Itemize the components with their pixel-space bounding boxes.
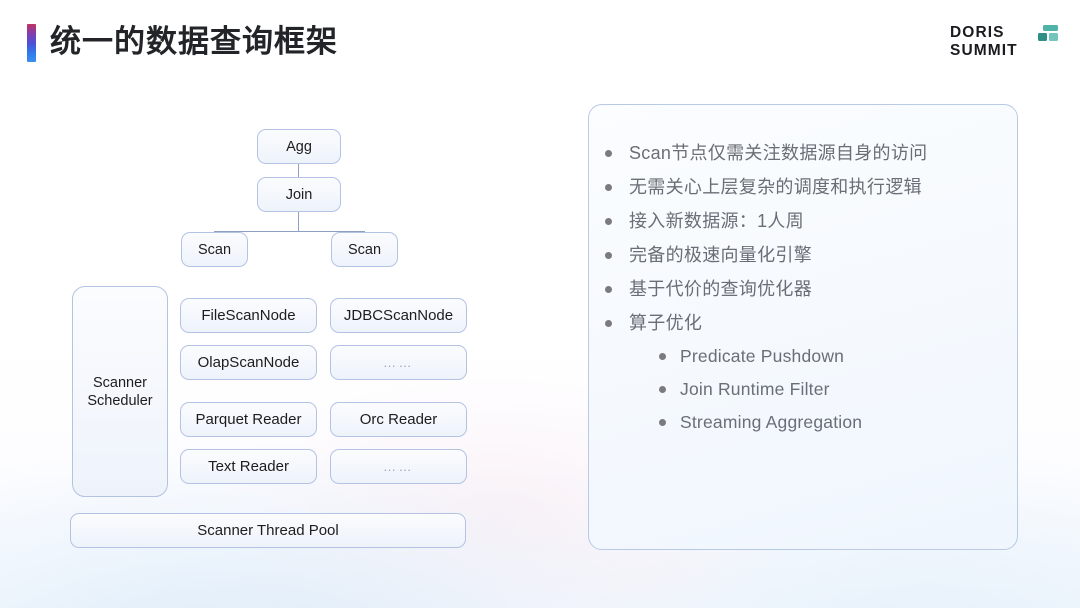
doris-summit-logo: DORIS SUMMIT — [950, 24, 1058, 64]
bullet-list: Scan节点仅需关注数据源自身的访问 无需关心上层复杂的调度和执行逻辑 接入新数… — [605, 141, 1003, 444]
node-jdbcscannode: JDBCScanNode — [330, 298, 467, 333]
connector-join-stem — [298, 212, 299, 231]
title-accent-bar — [27, 24, 36, 62]
node-more-scan-nodes: …… — [330, 345, 467, 380]
bullet-dot-icon — [605, 150, 612, 157]
sub-bullet-item: Predicate Pushdown — [605, 345, 1003, 368]
node-olapscannode: OlapScanNode — [180, 345, 317, 380]
node-join: Join — [257, 177, 341, 212]
bullet-label: 完备的极速向量化引擎 — [629, 243, 812, 268]
sub-bullet-list: Predicate Pushdown Join Runtime Filter S… — [605, 345, 1003, 434]
bullet-item: 完备的极速向量化引擎 — [605, 243, 1003, 268]
slide-canvas: 统一的数据查询框架 DORIS SUMMIT Agg Join Scan Sca… — [0, 0, 1080, 608]
node-text-reader: Text Reader — [180, 449, 317, 484]
bullet-label: 算子优化 — [629, 311, 702, 336]
bullet-dot-icon — [605, 286, 612, 293]
bullet-item: 接入新数据源：1人周 — [605, 209, 1003, 234]
node-agg: Agg — [257, 129, 341, 164]
page-title: 统一的数据查询框架 — [50, 20, 338, 64]
bullet-item: 基于代价的查询优化器 — [605, 277, 1003, 302]
node-parquet-reader: Parquet Reader — [180, 402, 317, 437]
node-scan-right: Scan — [331, 232, 398, 267]
bullet-label: Scan节点仅需关注数据源自身的访问 — [629, 141, 927, 166]
slide-header: 统一的数据查询框架 DORIS SUMMIT — [0, 0, 1080, 92]
sub-bullet-item: Join Runtime Filter — [605, 378, 1003, 401]
bullet-label: 基于代价的查询优化器 — [629, 277, 812, 302]
bullet-item: Scan节点仅需关注数据源自身的访问 — [605, 141, 1003, 166]
node-scan-left: Scan — [181, 232, 248, 267]
bullet-label: 接入新数据源：1人周 — [629, 209, 804, 234]
sub-bullet-label: Streaming Aggregation — [680, 411, 862, 434]
bullet-dot-icon — [605, 218, 612, 225]
bullet-dot-icon — [605, 252, 612, 259]
sub-bullet-dot-icon — [659, 419, 666, 426]
bullet-dot-icon — [605, 320, 612, 327]
logo-text-summit: SUMMIT — [950, 42, 1058, 60]
node-scanner-thread-pool: Scanner Thread Pool — [70, 513, 466, 548]
node-scanner-scheduler: Scanner Scheduler — [72, 286, 168, 497]
bullet-label: 无需关心上层复杂的调度和执行逻辑 — [629, 175, 922, 200]
bullet-item: 无需关心上层复杂的调度和执行逻辑 — [605, 175, 1003, 200]
sub-bullet-label: Join Runtime Filter — [680, 378, 830, 401]
node-more-readers: …… — [330, 449, 467, 484]
node-filescannode: FileScanNode — [180, 298, 317, 333]
bullet-item: 算子优化 — [605, 311, 1003, 336]
sub-bullet-dot-icon — [659, 386, 666, 393]
connector-agg-join — [298, 164, 299, 177]
node-orc-reader: Orc Reader — [330, 402, 467, 437]
logo-mark-icon — [1038, 25, 1058, 42]
bullet-dot-icon — [605, 184, 612, 191]
sub-bullet-item: Streaming Aggregation — [605, 411, 1003, 434]
info-panel: Scan节点仅需关注数据源自身的访问 无需关心上层复杂的调度和执行逻辑 接入新数… — [588, 104, 1018, 550]
sub-bullet-label: Predicate Pushdown — [680, 345, 844, 368]
sub-bullet-dot-icon — [659, 353, 666, 360]
